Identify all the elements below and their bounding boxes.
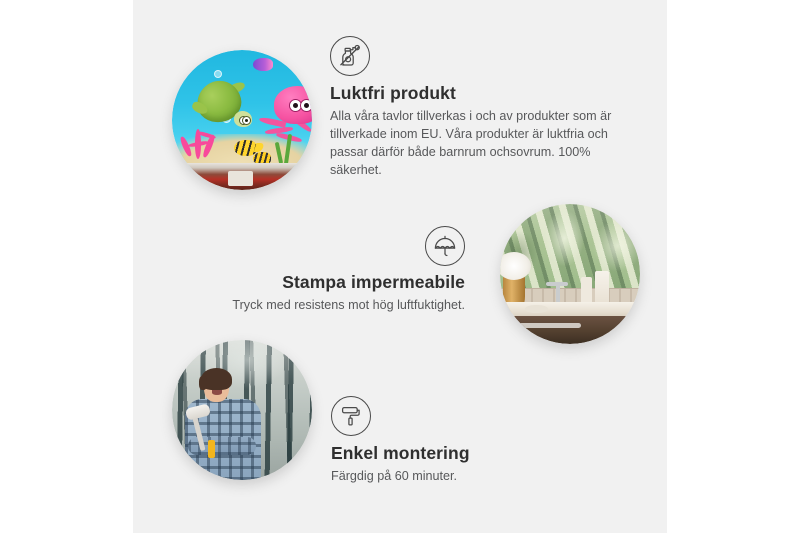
painter-woman-photo [172, 340, 312, 480]
turtle-head [234, 111, 252, 127]
white-flowers [500, 252, 531, 280]
media-circle-painter [172, 340, 312, 480]
woman-figure [183, 368, 264, 480]
feature-title: Stampa impermeabile [205, 272, 465, 292]
media-circle-sea [172, 50, 312, 190]
turtle-eye [242, 116, 251, 125]
fish-illustration [253, 58, 273, 71]
feature-title: Luktfri produkt [330, 83, 626, 103]
icon-row [331, 396, 601, 436]
vanity-cabinet [511, 316, 640, 344]
octopus-illustration [259, 86, 312, 150]
no-fragrance-spray-icon [330, 36, 370, 76]
coral-illustration [180, 120, 228, 159]
feature-odourless: Luktfri produkt Alla våra tavlor tillver… [330, 36, 626, 180]
hair [201, 368, 232, 390]
octopus-head [274, 86, 312, 123]
umbrella-icon [425, 226, 465, 266]
feature-easy-install: Enkel montering Färgdig på 60 minuter. [331, 396, 601, 486]
media-circle-bathroom [500, 204, 640, 344]
feature-description: Färgdig på 60 minuter. [331, 468, 601, 486]
feature-description: Alla våra tavlor tillverkas i och av pro… [330, 108, 626, 180]
smile [212, 390, 222, 394]
octopus-eye [300, 99, 312, 112]
bathroom-interior-photo [500, 204, 640, 344]
faucet-icon [556, 282, 560, 303]
tool-grip [208, 440, 215, 458]
paint-roller-icon [331, 396, 371, 436]
icon-row [205, 226, 465, 266]
feature-title: Enkel montering [331, 443, 601, 463]
feature-description: Tryck med resistens mot hög luftfuktighe… [205, 297, 465, 315]
bubble-icon [214, 70, 222, 78]
soap-dish [525, 305, 547, 313]
product-feature-banner: Luktfri produkt Alla våra tavlor tillver… [0, 0, 800, 533]
underwater-kids-illustration [172, 50, 312, 190]
sea-bottom-strip [172, 163, 312, 190]
icon-row [330, 36, 626, 76]
feature-waterproof: Stampa impermeabile Tryck med resistens … [205, 226, 465, 315]
